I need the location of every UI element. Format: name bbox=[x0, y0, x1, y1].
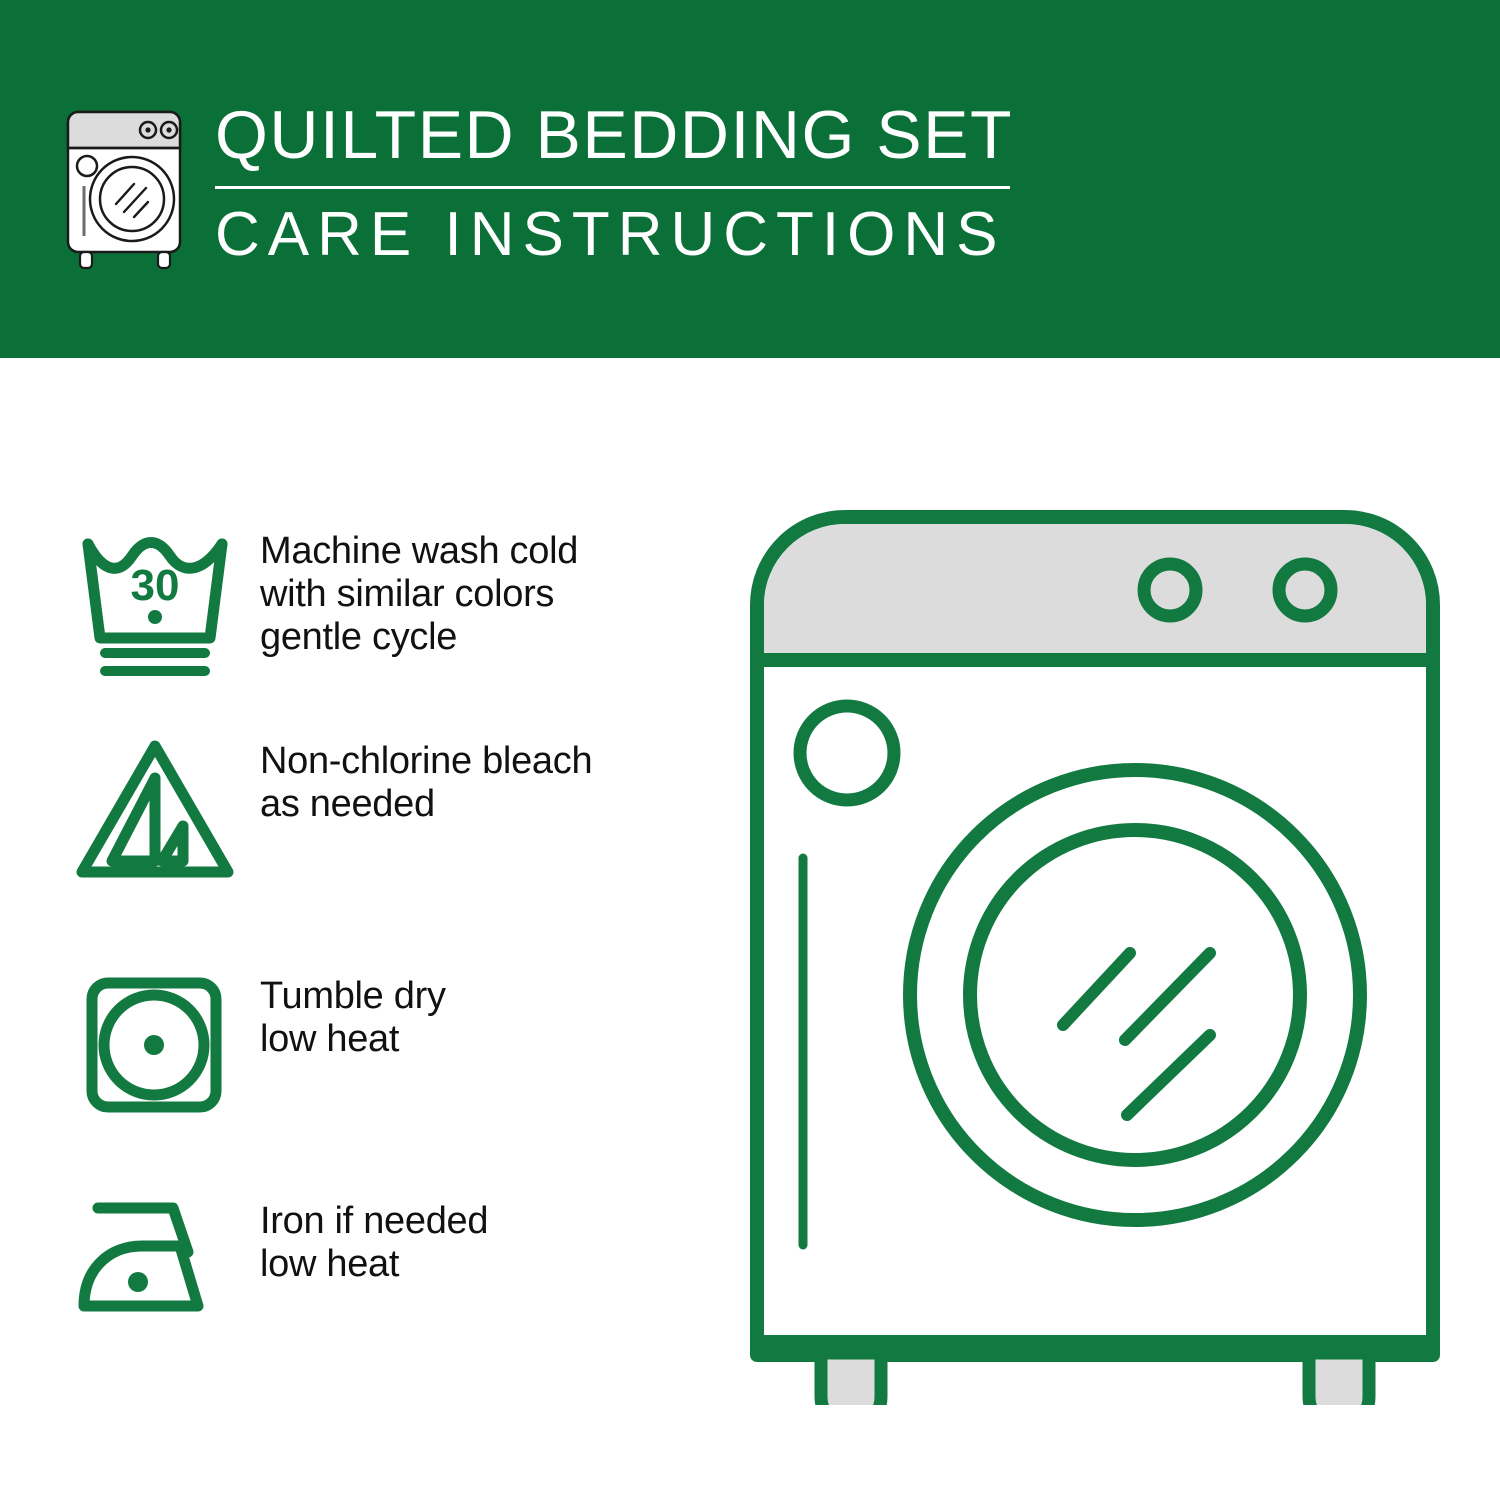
list-item: Non-chlorine bleach as needed bbox=[70, 730, 710, 890]
header-title-block: QUILTED BEDDING SET CARE INSTRUCTIONS bbox=[215, 98, 1015, 269]
care-text-line: Machine wash cold bbox=[260, 530, 578, 573]
washer-indicator-light bbox=[800, 706, 894, 800]
washer-knob-right bbox=[1279, 564, 1331, 616]
title-divider bbox=[215, 186, 1010, 189]
care-text-line: low heat bbox=[260, 1018, 446, 1061]
tumble-dry-low-heat-symbol bbox=[70, 965, 240, 1125]
list-item: Tumble dry low heat bbox=[70, 965, 710, 1125]
list-item-label: Machine wash cold with similar colors ge… bbox=[240, 520, 578, 659]
header-content: QUILTED BEDDING SET CARE INSTRUCTIONS bbox=[0, 0, 1500, 358]
care-instructions-label: QUILTED BEDDING SET CARE INSTRUCTIONS 30 bbox=[0, 0, 1500, 1500]
iron-low-heat-symbol bbox=[70, 1190, 240, 1330]
list-item-label: Iron if needed low heat bbox=[240, 1190, 488, 1286]
care-text-line: Iron if needed bbox=[260, 1200, 488, 1243]
care-text-line: gentle cycle bbox=[260, 616, 578, 659]
care-text-line: low heat bbox=[260, 1243, 488, 1286]
washer-leg-right bbox=[1309, 1353, 1369, 1405]
care-text-line: Non-chlorine bleach bbox=[260, 740, 592, 783]
header-band: QUILTED BEDDING SET CARE INSTRUCTIONS bbox=[0, 0, 1500, 358]
care-text-line: as needed bbox=[260, 783, 592, 826]
list-item: Iron if needed low heat bbox=[70, 1190, 710, 1330]
washer-knob-left bbox=[1144, 564, 1196, 616]
machine-wash-30-gentle-symbol: 30 bbox=[70, 520, 240, 680]
list-item-label: Non-chlorine bleach as needed bbox=[240, 730, 592, 826]
wash-temperature-value: 30 bbox=[131, 561, 180, 610]
washing-machine-icon bbox=[62, 104, 192, 272]
list-item: 30 Machine wash cold with similar colors… bbox=[70, 520, 710, 680]
care-text-line: with similar colors bbox=[260, 573, 578, 616]
care-text-line: Tumble dry bbox=[260, 975, 446, 1018]
washing-machine-illustration bbox=[745, 505, 1445, 1405]
non-chlorine-bleach-symbol bbox=[70, 730, 240, 890]
care-instructions-subtitle: CARE INSTRUCTIONS bbox=[215, 201, 1015, 269]
page-title: QUILTED BEDDING SET bbox=[215, 98, 1015, 172]
list-item-label: Tumble dry low heat bbox=[240, 965, 446, 1061]
washer-leg-left bbox=[821, 1353, 881, 1405]
